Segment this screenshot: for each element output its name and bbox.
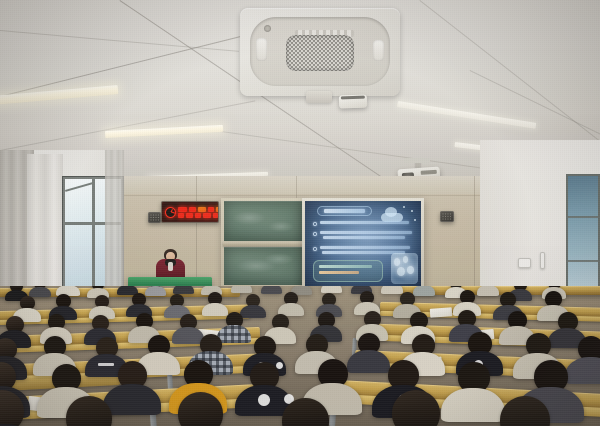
projection-screen: 安全教育专题讲座 第一条 加强安全防范意识，遵守校园安全管理规定: [302, 198, 424, 290]
wall-speaker-right: [440, 211, 454, 222]
ac-grille: [286, 35, 353, 71]
screen-surface: 安全教育专题讲座 第一条 加强安全防范意识，遵守校园安全管理规定: [305, 201, 421, 287]
ceiling-seam: [0, 30, 239, 52]
ceiling-seam: [419, 0, 600, 149]
bullet-marker-icon: [313, 232, 317, 236]
lecture-hall-photo: white suspended panel ceiling: [0, 0, 600, 426]
illustration-shape: [397, 267, 405, 276]
ac-vane-right: [373, 40, 384, 61]
led-message-board: 电子显示屏 滚动信息 欢迎 参加 本次 讲座: [161, 201, 219, 223]
sparkle-dot: [403, 206, 405, 208]
window-mullion: [566, 260, 600, 262]
chalkboard-panel-bottom: [224, 247, 302, 285]
slide-title: 安全教育专题讲座: [317, 206, 373, 215]
chalk-smudge: [264, 253, 294, 265]
student-audience: Seated students: [0, 286, 600, 426]
chalk-smudge: [232, 211, 266, 225]
light-switch-panel-right[interactable]: [518, 258, 531, 268]
sparkle-dot: [411, 210, 413, 212]
linear-light-right: [397, 101, 536, 129]
podium-top-surface: [128, 277, 212, 284]
ac-sensor: [264, 25, 271, 32]
chalk-smudge: [268, 221, 294, 232]
green-chalkboard: Green chalkboard: [221, 198, 305, 288]
curtain-left-edge: [105, 150, 124, 300]
curtain-left-bright: [27, 154, 63, 304]
chalkboard-panel-top: [224, 201, 302, 241]
projector-ceiling-plate: [404, 158, 430, 163]
slide-illustration: cartoon-illustration: [391, 253, 418, 284]
ac-drop-panel: [306, 91, 332, 103]
slide-bullet-2: 第二条 注意用电用火安全，实验室操作规范，禁止违规电器: [313, 231, 413, 242]
smoke-detector: [339, 95, 367, 109]
window-mullion: [92, 179, 95, 295]
sparkle-dot: [414, 219, 416, 221]
illustration-shape: [407, 266, 413, 273]
light-switch-strip[interactable]: [540, 252, 545, 269]
window-mullion: [566, 216, 600, 218]
ac-inner-panel: [250, 17, 390, 86]
linear-light-left: [0, 85, 118, 105]
illustration-shape: [394, 258, 401, 266]
chalk-rail: [223, 242, 303, 246]
slide-note-box: 温馨提示：珍爱生命 注意安全 从我做起 安全第一: [313, 260, 383, 282]
wall-speaker-left: [148, 212, 161, 223]
bullet-marker-icon: [313, 247, 317, 251]
slide-bullet-1: 第一条 加强安全防范意识，遵守校园安全管理规定: [313, 221, 413, 229]
chalk-smudge: [236, 259, 276, 273]
illustration-shape: [403, 256, 409, 263]
ac-vane-left: [256, 38, 267, 61]
cloud-icon: [377, 207, 407, 222]
bullet-marker-icon: [313, 222, 317, 226]
ac-cassette-unit: [240, 8, 400, 96]
paper-sheet: [430, 307, 453, 318]
right-window: [566, 174, 600, 302]
presenter-shirt: [168, 262, 173, 271]
